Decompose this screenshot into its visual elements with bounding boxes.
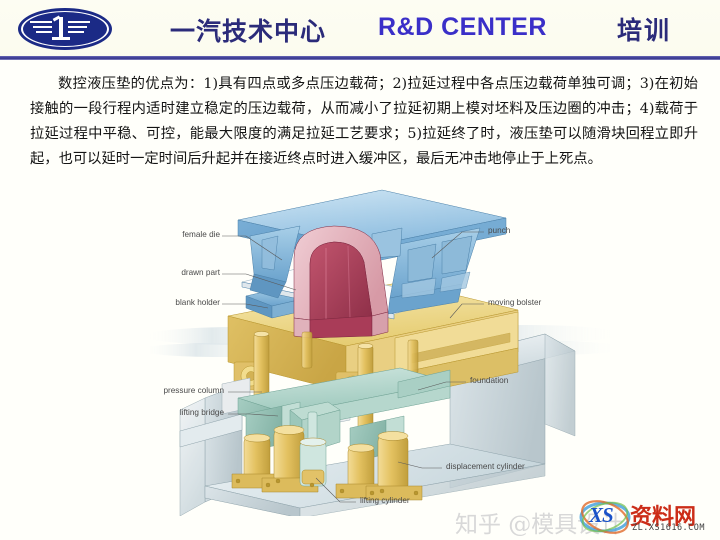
xs-wordmark: XS	[589, 503, 613, 528]
label-blank-holder: blank holder	[144, 298, 220, 307]
punch-and-part	[294, 226, 388, 338]
logo-wing-bar	[68, 31, 84, 33]
site-url: ZL.XS1616.COM	[632, 523, 705, 533]
xs-site-watermark: XS 资料网 ZL.XS1616.COM	[578, 498, 718, 538]
header-title-cn: 一汽技术中心	[170, 12, 326, 48]
label-moving-bolster: moving bolster	[488, 298, 541, 307]
logo-numeral-one-base	[52, 37, 70, 40]
logo-oval-fill	[23, 12, 107, 46]
label-lifting-cylinder: lifting cylinder	[360, 496, 410, 505]
logo-wing-bar	[33, 26, 52, 28]
label-drawn-part: drawn part	[144, 268, 220, 277]
page-header: 一汽技术中心 R&D CENTER 培训	[0, 0, 720, 60]
label-lifting-bridge: lifting bridge	[132, 408, 224, 417]
logo-wing-bar	[68, 21, 90, 23]
label-foundation: foundation	[470, 376, 508, 385]
logo-wing-bar	[68, 26, 87, 28]
logo-wing-bar	[30, 21, 52, 23]
label-female-die: female die	[144, 230, 220, 239]
header-title-en: R&D CENTER	[378, 13, 547, 42]
label-punch: punch	[488, 226, 510, 235]
logo-wing-bar	[36, 31, 52, 33]
body-paragraph: 数控液压垫的优点为：1)具有四点或多点压边载荷；2)拉延过程中各点压边载荷单独可…	[30, 72, 698, 172]
header-title-right: 培训	[617, 11, 671, 47]
diagram-hydraulic-cushion-press: female die drawn part blank holder punch…	[150, 186, 610, 516]
label-displacement-cylinder: displacement cylinder	[446, 462, 525, 471]
header-divider	[0, 56, 720, 60]
label-pressure-column: pressure column	[132, 386, 224, 395]
faw-logo	[18, 8, 112, 50]
